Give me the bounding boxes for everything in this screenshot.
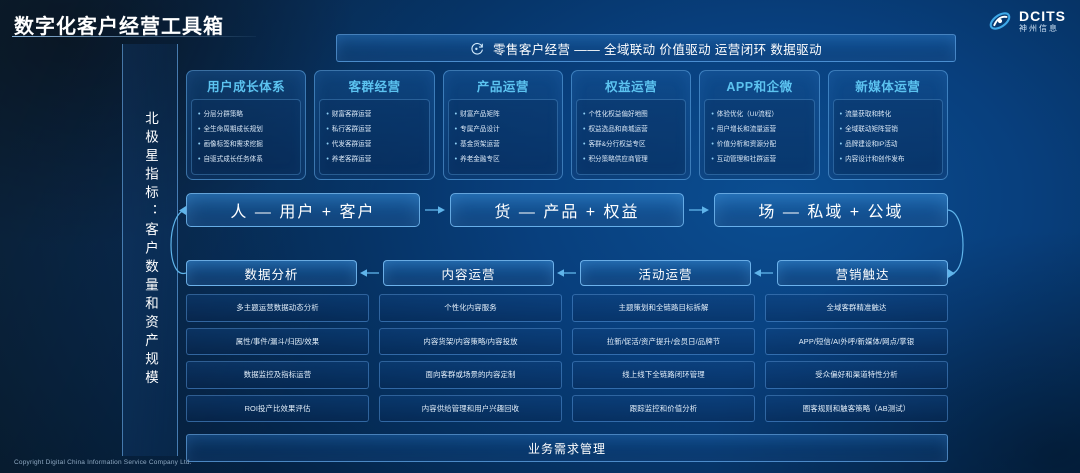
bullet-icon: • xyxy=(583,141,585,148)
card-title: 客群经营 xyxy=(348,76,400,95)
card-body: •财富客群运营 •私行客群运营 •代发客群运营 •养老客群运营 xyxy=(319,99,429,175)
card-list-item: •体验优化（UI/流程） xyxy=(711,111,810,119)
card-body: •财富产品矩阵 •专属产品设计 •基金货架运营 •养老金融专区 xyxy=(448,99,558,175)
arrow-right-icon xyxy=(688,204,710,216)
bullet-icon: • xyxy=(711,126,713,133)
card-list-item: •私行客群运营 xyxy=(326,126,425,134)
detail-cell[interactable]: 拉新/促活/资产提升/会员日/品牌节 xyxy=(572,328,755,356)
arrow-left-icon xyxy=(754,267,774,279)
bullet-icon: • xyxy=(840,141,842,148)
card-list-item-label: 权益选品和商城运营 xyxy=(588,126,647,134)
card-list-item-label: 财富产品矩阵 xyxy=(460,111,500,119)
card-list-item-label: 积分策略供应商管理 xyxy=(588,156,647,164)
section-data-analysis[interactable]: 数据分析 xyxy=(186,260,357,286)
detail-column: 主题策划和全链路目标拆解 拉新/促活/资产提升/会员日/品牌节 线上线下全链路闭… xyxy=(572,294,755,422)
card-list-item-label: 流量获取和转化 xyxy=(845,111,891,119)
flow-box-label: 货 — 产品 + 权益 xyxy=(494,198,639,222)
bullet-icon: • xyxy=(711,156,713,163)
card-list-item-label: 分层分群策略 xyxy=(203,111,243,119)
bullet-icon: • xyxy=(198,111,200,118)
banner-text: 零售客户经营 —— 全域联动 价值驱动 运营闭环 数据驱动 xyxy=(493,39,822,58)
detail-grid: 多主题运营数据动态分析 属性/事件/漏斗/归因/效果 数据监控及指标运营 ROI… xyxy=(186,294,948,422)
detail-cell[interactable]: 全域客群精准触达 xyxy=(765,294,948,322)
logo-brand-en: DCITS xyxy=(1019,9,1066,23)
bullet-icon: • xyxy=(198,156,200,163)
bullet-icon: • xyxy=(198,141,200,148)
card-list-item: •基金货架运营 xyxy=(455,141,554,149)
detail-cell-label: 内容货架/内容策略/内容投放 xyxy=(423,336,517,347)
card-list-item: •代发客群运营 xyxy=(326,141,425,149)
card-list-item: •专属产品设计 xyxy=(455,126,554,134)
capability-card[interactable]: APP和企微 •体验优化（UI/流程） •用户增长和流量运营 •价值分析和资源分… xyxy=(699,70,819,180)
detail-cell[interactable]: 线上线下全链路闭环管理 xyxy=(572,361,755,389)
section-label: 内容运营 xyxy=(441,264,495,283)
card-body: •流量获取和转化 •全域联动矩阵营销 •品牌建设和IP活动 •内容设计和创作发布 xyxy=(833,99,943,175)
capability-card[interactable]: 权益运营 •个性化权益偏好地图 •权益选品和商城运营 •客群&分行权益专区 •积… xyxy=(571,70,691,180)
detail-column: 多主题运营数据动态分析 属性/事件/漏斗/归因/效果 数据监控及指标运营 ROI… xyxy=(186,294,369,422)
section-arrow xyxy=(751,267,777,279)
detail-cell-label: 主题策划和全链路目标拆解 xyxy=(619,302,709,313)
card-list-item: •全域联动矩阵营销 xyxy=(840,126,939,134)
detail-cell-label: 圈客规则和触客策略（AB测试） xyxy=(803,403,910,414)
card-list-item-label: 全域联动矩阵营销 xyxy=(845,126,898,134)
card-list-item: •价值分析和资源分配 xyxy=(711,141,810,149)
detail-cell-label: 面向客群或场景的内容定制 xyxy=(426,369,516,380)
detail-cell[interactable]: 属性/事件/漏斗/归因/效果 xyxy=(186,328,369,356)
card-list-item-label: 私行客群运营 xyxy=(332,126,372,134)
flow-box-field[interactable]: 场 — 私域 + 公域 xyxy=(714,193,948,227)
bullet-icon: • xyxy=(455,156,457,163)
detail-cell[interactable]: 跟踪监控和价值分析 xyxy=(572,395,755,423)
bullet-icon: • xyxy=(326,156,328,163)
card-list-item: •个性化权益偏好地图 xyxy=(583,111,682,119)
bullet-icon: • xyxy=(711,111,713,118)
card-list-item: •内容设计和创作发布 xyxy=(840,156,939,164)
flow-arrow xyxy=(420,204,450,216)
detail-cell[interactable]: 个性化内容服务 xyxy=(379,294,562,322)
card-title: APP和企微 xyxy=(726,76,792,95)
detail-cell[interactable]: 受众偏好和渠道特性分析 xyxy=(765,361,948,389)
card-list-item-label: 养老金融专区 xyxy=(460,156,500,164)
capability-card[interactable]: 产品运营 •财富产品矩阵 •专属产品设计 •基金货架运营 •养老金融专区 xyxy=(443,70,563,180)
detail-cell-label: 受众偏好和渠道特性分析 xyxy=(815,369,897,380)
detail-cell[interactable]: 主题策划和全链路目标拆解 xyxy=(572,294,755,322)
arrow-right-icon xyxy=(424,204,446,216)
bullet-icon: • xyxy=(840,156,842,163)
detail-cell-label: 属性/事件/漏斗/归因/效果 xyxy=(236,336,320,347)
detail-cell-label: 线上线下全链路闭环管理 xyxy=(622,369,704,380)
section-content-operation[interactable]: 内容运营 xyxy=(383,260,554,286)
title-underline xyxy=(12,36,256,37)
card-list-item-label: 客群&分行权益专区 xyxy=(588,141,645,149)
dcits-swirl-icon xyxy=(987,8,1013,34)
capability-card[interactable]: 客群经营 •财富客群运营 •私行客群运营 •代发客群运营 •养老客群运营 xyxy=(314,70,434,180)
bullet-icon: • xyxy=(840,111,842,118)
section-label: 营销触达 xyxy=(835,264,889,283)
card-list-item: •自驱式成长任务体系 xyxy=(198,156,297,164)
bullet-icon: • xyxy=(583,111,585,118)
card-title: 权益运营 xyxy=(605,76,657,95)
card-body: •体验优化（UI/流程） •用户增长和流量运营 •价值分析和资源分配 •互动管理… xyxy=(704,99,814,175)
card-list-item: •互动管理和社群运营 xyxy=(711,156,810,164)
card-list-item: •品牌建设和IP活动 xyxy=(840,141,939,149)
card-list-item-label: 互动管理和社群运营 xyxy=(717,156,776,164)
card-list-item-label: 基金货架运营 xyxy=(460,141,500,149)
logo-brand-cn: 神州信息 xyxy=(1019,25,1066,33)
section-marketing-reach[interactable]: 营销触达 xyxy=(777,260,948,286)
section-campaign-operation[interactable]: 活动运营 xyxy=(580,260,751,286)
bullet-icon: • xyxy=(583,156,585,163)
detail-cell-label: 个性化内容服务 xyxy=(444,302,496,313)
capability-card[interactable]: 新媒体运营 •流量获取和转化 •全域联动矩阵营销 •品牌建设和IP活动 •内容设… xyxy=(828,70,948,180)
operation-sections-row: 数据分析 内容运营 活动运营 营销触达 xyxy=(186,260,948,286)
detail-cell[interactable]: ROI投产比效果评估 xyxy=(186,395,369,423)
detail-cell-label: 全域客群精准触达 xyxy=(827,302,887,313)
detail-cell-label: 多主题运营数据动态分析 xyxy=(236,302,318,313)
brand-logo: DCITS 神州信息 xyxy=(987,8,1066,34)
card-list-item: •用户增长和流量运营 xyxy=(711,126,810,134)
flow-box-label: 场 — 私域 + 公域 xyxy=(758,198,903,222)
card-title: 新媒体运营 xyxy=(855,76,920,95)
card-list-item-label: 用户增长和流量运营 xyxy=(717,126,776,134)
section-label: 活动运营 xyxy=(638,264,692,283)
bullet-icon: • xyxy=(198,126,200,133)
bullet-icon: • xyxy=(455,141,457,148)
detail-cell[interactable]: 多主题运营数据动态分析 xyxy=(186,294,369,322)
card-list-item-label: 代发客群运营 xyxy=(332,141,372,149)
card-title: 用户成长体系 xyxy=(207,76,285,95)
card-list-item-label: 体验优化（UI/流程） xyxy=(717,111,778,119)
detail-column: 个性化内容服务 内容货架/内容策略/内容投放 面向客群或场景的内容定制 内容供给… xyxy=(379,294,562,422)
bottom-bar[interactable]: 业务需求管理 xyxy=(186,434,948,462)
detail-column: 全域客群精准触达 APP/短信/AI外呼/新媒体/网点/掌银 受众偏好和渠道特性… xyxy=(765,294,948,422)
card-list-item-label: 专属产品设计 xyxy=(460,126,500,134)
detail-cell[interactable]: 圈客规则和触客策略（AB测试） xyxy=(765,395,948,423)
card-title: 产品运营 xyxy=(477,76,529,95)
north-star-axis: 北极星指标：客户数量和资产规模 xyxy=(122,44,178,456)
arrow-left-icon xyxy=(360,267,380,279)
card-list-item: •客群&分行权益专区 xyxy=(583,141,682,149)
flow-arrow xyxy=(684,204,714,216)
flow-box-people[interactable]: 人 — 用户 + 客户 xyxy=(186,193,420,227)
bullet-icon: • xyxy=(840,126,842,133)
capability-cards-row: 用户成长体系 •分层分群策略 •全生命周期成长规划 •画像标签和需求挖掘 •自驱… xyxy=(186,70,948,180)
card-list-item-label: 自驱式成长任务体系 xyxy=(203,156,262,164)
bullet-icon: • xyxy=(326,141,328,148)
card-list-item-label: 财富客群运营 xyxy=(332,111,372,119)
card-list-item: •养老客群运营 xyxy=(326,156,425,164)
flow-box-label: 人 — 用户 + 客户 xyxy=(230,198,375,222)
card-list-item: •权益选品和商城运营 xyxy=(583,126,682,134)
section-arrow xyxy=(554,267,580,279)
bullet-icon: • xyxy=(455,111,457,118)
section-arrow xyxy=(357,267,383,279)
card-list-item-label: 个性化权益偏好地图 xyxy=(588,111,647,119)
retail-cycle-icon xyxy=(470,41,485,56)
card-list-item: •分层分群策略 xyxy=(198,111,297,119)
detail-cell-label: 跟踪监控和价值分析 xyxy=(630,403,697,414)
detail-cell[interactable]: 数据监控及指标运营 xyxy=(186,361,369,389)
detail-cell-label: 数据监控及指标运营 xyxy=(244,369,311,380)
card-body: •分层分群策略 •全生命周期成长规划 •画像标签和需求挖掘 •自驱式成长任务体系 xyxy=(191,99,301,175)
bullet-icon: • xyxy=(326,111,328,118)
card-list-item-label: 品牌建设和IP活动 xyxy=(845,141,897,149)
bullet-icon: • xyxy=(711,141,713,148)
detail-cell[interactable]: 内容供给管理和用户兴趣回收 xyxy=(379,395,562,423)
banner-strip: 零售客户经营 —— 全域联动 价值驱动 运营闭环 数据驱动 xyxy=(336,34,956,62)
north-star-axis-label: 北极星指标：客户数量和资产规模 xyxy=(140,111,160,389)
card-body: •个性化权益偏好地图 •权益选品和商城运营 •客群&分行权益专区 •积分策略供应… xyxy=(576,99,686,175)
detail-cell-label: ROI投产比效果评估 xyxy=(245,403,311,414)
detail-cell-label: 内容供给管理和用户兴趣回收 xyxy=(422,403,519,414)
card-list-item: •画像标签和需求挖掘 xyxy=(198,141,297,149)
bullet-icon: • xyxy=(583,126,585,133)
card-list-item-label: 养老客群运营 xyxy=(332,156,372,164)
capability-card[interactable]: 用户成长体系 •分层分群策略 •全生命周期成长规划 •画像标签和需求挖掘 •自驱… xyxy=(186,70,306,180)
card-list-item-label: 全生命周期成长规划 xyxy=(203,126,262,134)
bullet-icon: • xyxy=(455,126,457,133)
detail-cell-label: APP/短信/AI外呼/新媒体/网点/掌银 xyxy=(799,336,914,347)
card-list-item: •积分策略供应商管理 xyxy=(583,156,682,164)
flow-box-goods[interactable]: 货 — 产品 + 权益 xyxy=(450,193,684,227)
card-list-item: •养老金融专区 xyxy=(455,156,554,164)
detail-cell-label: 拉新/促活/资产提升/会员日/品牌节 xyxy=(607,336,720,347)
card-list-item-label: 画像标签和需求挖掘 xyxy=(203,141,262,149)
bullet-icon: • xyxy=(326,126,328,133)
page-title: 数字化客户经营工具箱 xyxy=(14,10,224,39)
detail-cell[interactable]: APP/短信/AI外呼/新媒体/网点/掌银 xyxy=(765,328,948,356)
card-list-item: •流量获取和转化 xyxy=(840,111,939,119)
bottom-bar-label: 业务需求管理 xyxy=(528,440,606,457)
card-list-item-label: 价值分析和资源分配 xyxy=(717,141,776,149)
card-list-item: •财富客群运营 xyxy=(326,111,425,119)
arrow-left-icon xyxy=(557,267,577,279)
section-label: 数据分析 xyxy=(244,264,298,283)
flow-row: 人 — 用户 + 客户 货 — 产品 + 权益 场 — 私域 + 公域 xyxy=(186,193,948,227)
detail-cell[interactable]: 内容货架/内容策略/内容投放 xyxy=(379,328,562,356)
card-list-item: •全生命周期成长规划 xyxy=(198,126,297,134)
copyright-text: Copyright Digital China Information Serv… xyxy=(14,459,192,466)
card-list-item: •财富产品矩阵 xyxy=(455,111,554,119)
detail-cell[interactable]: 面向客群或场景的内容定制 xyxy=(379,361,562,389)
card-list-item-label: 内容设计和创作发布 xyxy=(845,156,904,164)
